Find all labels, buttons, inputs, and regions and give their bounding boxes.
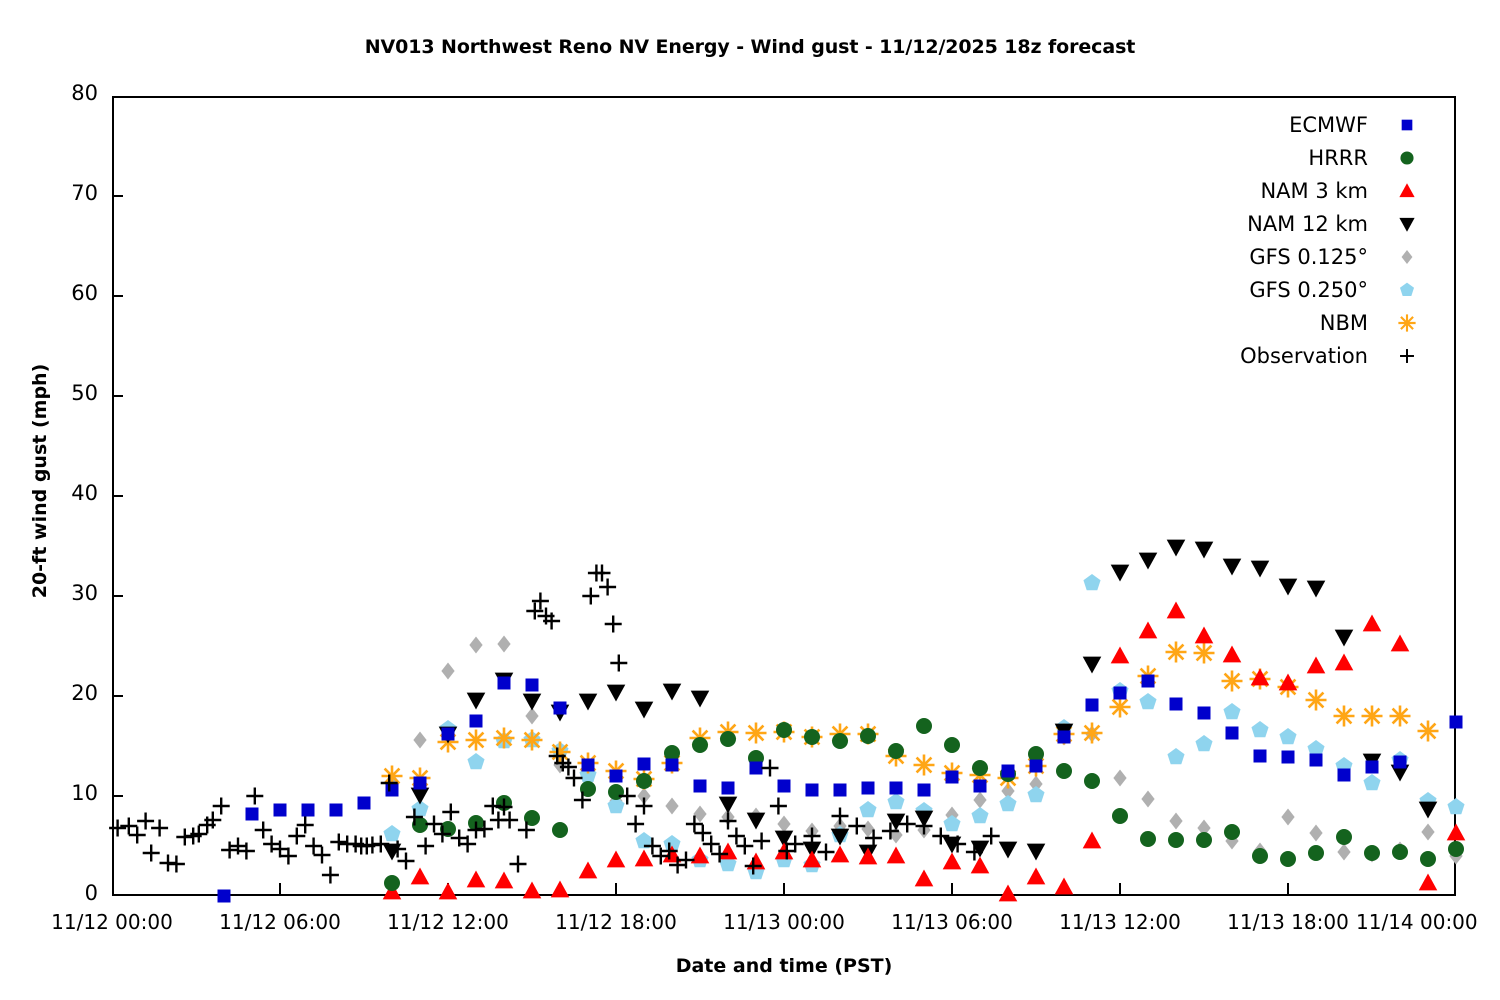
y-tick-label: 0 <box>28 881 98 905</box>
y-tick-label: 20 <box>28 681 98 705</box>
chart-title: NV013 Northwest Reno NV Energy - Wind gu… <box>0 36 1500 58</box>
green-circle-marker-icon <box>1394 145 1420 171</box>
chart-legend: ECMWFHRRRNAM 3 kmNAM 12 kmGFS 0.125°GFS … <box>1150 108 1420 372</box>
red-triangle-up-marker-icon <box>1394 178 1420 204</box>
legend-label-nam12: NAM 12 km <box>1247 212 1394 236</box>
y-axis-label: 20-ft wind gust (mph) <box>29 321 51 641</box>
gray-diamond-marker-icon <box>1394 244 1420 270</box>
y-tick-label: 70 <box>28 181 98 205</box>
legend-item-obs[interactable]: Observation <box>1150 339 1420 372</box>
legend-item-nbm[interactable]: NBM <box>1150 306 1420 339</box>
legend-item-gfs250[interactable]: GFS 0.250° <box>1150 273 1420 306</box>
legend-item-gfs125[interactable]: GFS 0.125° <box>1150 240 1420 273</box>
legend-item-nam3[interactable]: NAM 3 km <box>1150 174 1420 207</box>
lightblue-pentagon-marker-icon <box>1394 277 1420 303</box>
chart-page: NV013 Northwest Reno NV Energy - Wind gu… <box>0 0 1500 1000</box>
legend-label-gfs250: GFS 0.250° <box>1249 278 1394 302</box>
x-axis-label: Date and time (PST) <box>112 955 1456 977</box>
legend-label-obs: Observation <box>1240 344 1394 368</box>
y-tick-label: 60 <box>28 281 98 305</box>
legend-item-nam12[interactable]: NAM 12 km <box>1150 207 1420 240</box>
legend-label-nam3: NAM 3 km <box>1260 179 1394 203</box>
legend-label-nbm: NBM <box>1320 311 1394 335</box>
black-triangle-down-marker-icon <box>1394 211 1420 237</box>
legend-label-gfs125: GFS 0.125° <box>1249 245 1394 269</box>
legend-label-ecmwf: ECMWF <box>1289 113 1394 137</box>
y-tick-label: 10 <box>28 781 98 805</box>
legend-item-ecmwf[interactable]: ECMWF <box>1150 108 1420 141</box>
x-tick-label: 11/14 00:00 <box>1356 910 1500 934</box>
legend-label-hrrr: HRRR <box>1308 146 1394 170</box>
legend-item-hrrr[interactable]: HRRR <box>1150 141 1420 174</box>
black-plus-marker-icon <box>1394 343 1420 369</box>
y-tick-label: 80 <box>28 81 98 105</box>
blue-square-marker-icon <box>1394 112 1420 138</box>
orange-asterisk-marker-icon <box>1394 310 1420 336</box>
